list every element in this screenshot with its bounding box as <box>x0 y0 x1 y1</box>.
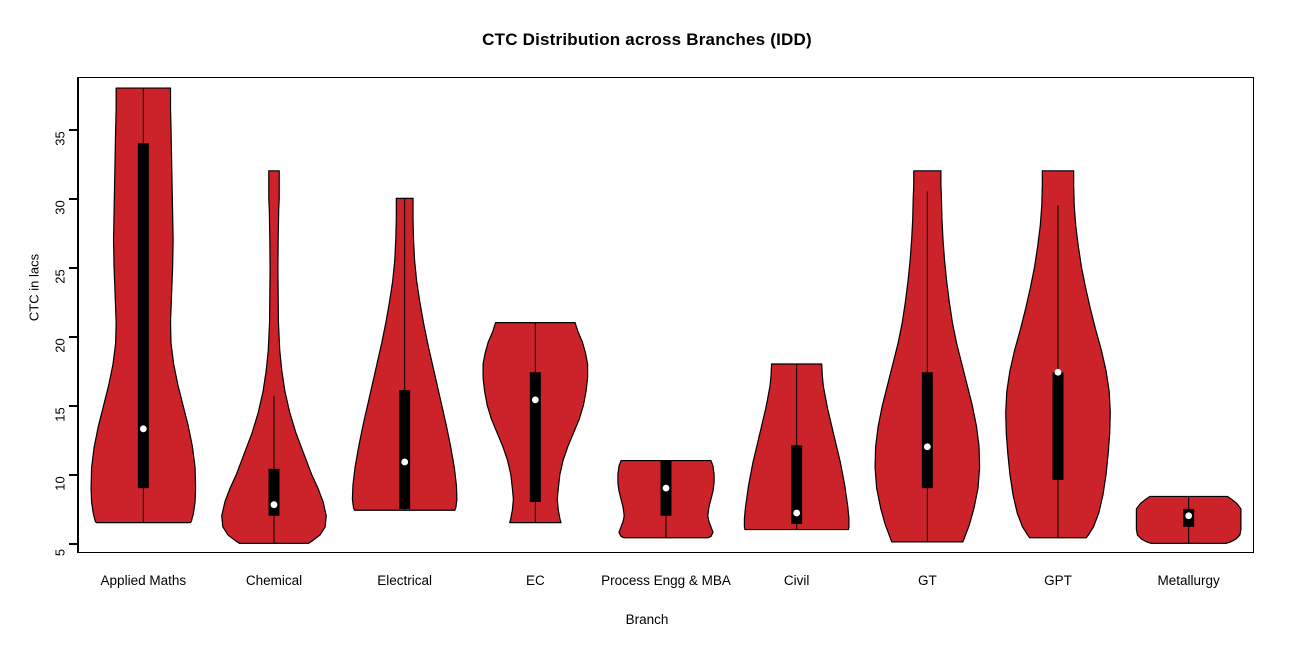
violin-gt <box>875 171 980 542</box>
median-point <box>140 425 147 432</box>
y-tick-mark <box>69 267 77 269</box>
iqr-box <box>399 390 410 509</box>
y-tick-mark <box>69 129 77 131</box>
violin-chemical <box>222 171 327 544</box>
violin-process-engg-mba <box>618 461 714 538</box>
violin-plot-figure: CTC Distribution across Branches (IDD) C… <box>0 0 1294 653</box>
iqr-box <box>269 469 280 516</box>
y-tick-label: 35 <box>53 128 68 150</box>
violin-civil <box>744 364 849 530</box>
median-point <box>1055 369 1062 376</box>
x-tick-label-applied-maths: Applied Maths <box>101 573 187 588</box>
median-point <box>271 501 278 508</box>
y-axis-title: CTC in lacs <box>27 228 42 348</box>
y-tick-label: 10 <box>53 473 68 495</box>
x-tick-label-civil: Civil <box>784 573 810 588</box>
median-point <box>924 443 931 450</box>
iqr-box <box>530 372 541 502</box>
y-tick-label: 20 <box>53 335 68 357</box>
median-point <box>401 459 408 466</box>
y-tick-mark <box>69 405 77 407</box>
x-tick-label-ec: EC <box>526 573 545 588</box>
median-point <box>663 485 670 492</box>
x-tick-label-process-engg-mba: Process Engg & MBA <box>601 573 731 588</box>
iqr-box <box>1053 372 1064 480</box>
median-point <box>532 396 539 403</box>
y-tick-mark <box>69 198 77 200</box>
y-tick-mark <box>69 474 77 476</box>
page-title: CTC Distribution across Branches (IDD) <box>0 30 1294 50</box>
y-tick-label: 15 <box>53 404 68 426</box>
violin-ec <box>483 323 588 523</box>
y-tick-mark <box>69 543 77 545</box>
x-axis-title: Branch <box>0 612 1294 627</box>
violin-electrical <box>352 198 457 510</box>
violin-gpt <box>1006 171 1111 538</box>
median-point <box>793 510 800 517</box>
median-point <box>1185 512 1192 519</box>
y-tick-mark <box>69 336 77 338</box>
x-tick-label-metallurgy: Metallurgy <box>1158 573 1220 588</box>
x-tick-label-chemical: Chemical <box>246 573 302 588</box>
y-tick-label: 25 <box>53 266 68 288</box>
x-tick-label-electrical: Electrical <box>377 573 432 588</box>
violin-metallurgy <box>1136 496 1241 543</box>
iqr-box <box>138 143 149 488</box>
y-tick-label: 30 <box>53 197 68 219</box>
x-tick-label-gpt: GPT <box>1044 573 1072 588</box>
y-tick-label: 5 <box>53 542 68 564</box>
x-tick-label-gt: GT <box>918 573 937 588</box>
violin-canvas <box>78 77 1254 553</box>
iqr-box <box>922 372 933 488</box>
violin-applied-maths <box>91 88 196 523</box>
